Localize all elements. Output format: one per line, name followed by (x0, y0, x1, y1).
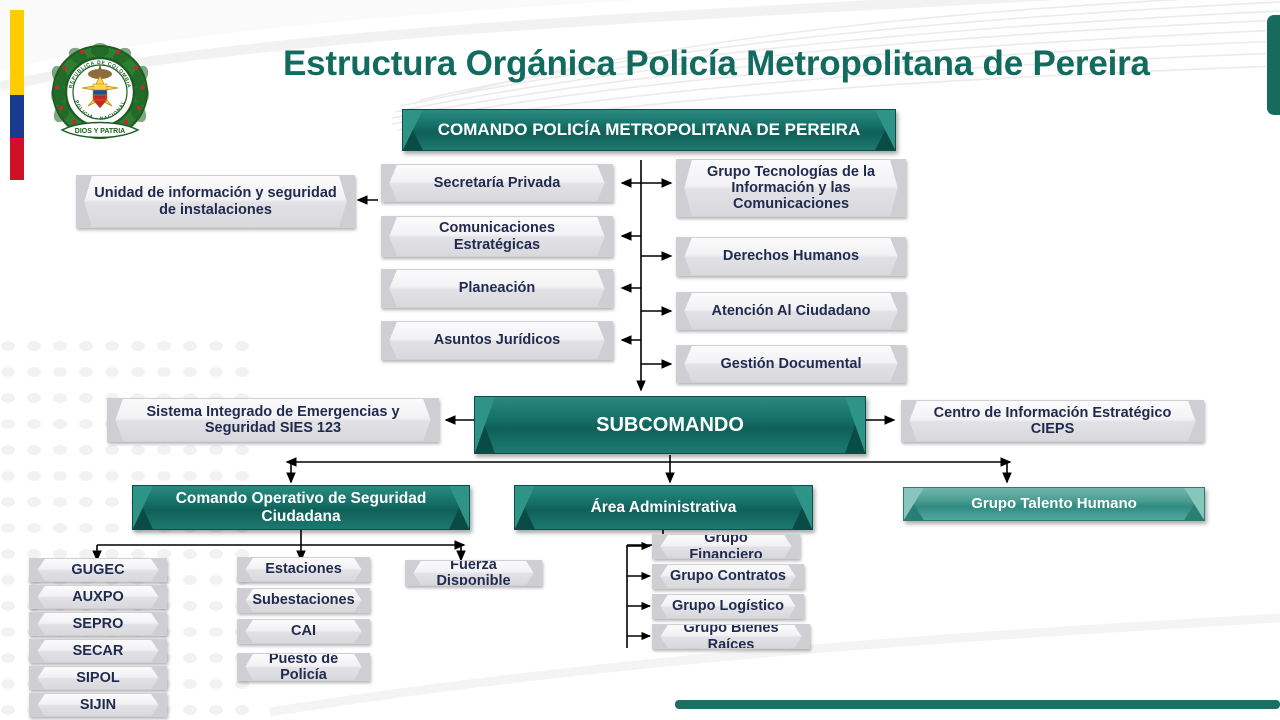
node-cieps[interactable]: Centro de Información Estratégico CIEPS (901, 400, 1204, 442)
node-label: Fuerza Disponible (406, 560, 541, 586)
node-label: SUBCOMANDO (582, 414, 758, 436)
node-label: AUXPO (58, 589, 138, 605)
node-estaciones[interactable]: Estaciones (237, 557, 370, 582)
node-unidad-informacion[interactable]: Unidad de información y seguridad de ins… (76, 175, 355, 228)
node-label: SIPOL (62, 670, 134, 686)
bottom-accent-bar (675, 700, 1280, 709)
node-atencion-ciudadano[interactable]: Atención Al Ciudadano (676, 292, 906, 330)
node-label: Grupo Talento Humano (957, 496, 1151, 513)
node-label: Secretaría Privada (420, 175, 575, 191)
node-sies-123[interactable]: Sistema Integrado de Emergencias y Segur… (107, 398, 439, 442)
node-secretaria-privada[interactable]: Secretaría Privada (381, 164, 613, 202)
node-gugec[interactable]: GUGEC (29, 558, 167, 582)
node-gestion-documental[interactable]: Gestión Documental (676, 345, 906, 383)
node-label: Planeación (445, 280, 550, 296)
node-label: GUGEC (57, 562, 138, 578)
node-label: Área Administrativa (577, 499, 751, 516)
node-label: Comunicaciones Estratégicas (382, 220, 612, 252)
node-label: Subestaciones (238, 592, 368, 608)
node-label: Grupo Logístico (658, 598, 798, 614)
node-label: CAI (277, 623, 330, 639)
node-subcomando[interactable]: SUBCOMANDO (474, 396, 866, 454)
node-sijin[interactable]: SIJIN (29, 693, 167, 717)
slide-canvas: REPUBLICA DE COLOMBIA POLICIA · NACIONAL… (0, 0, 1280, 720)
node-subestaciones[interactable]: Subestaciones (237, 588, 370, 613)
node-label: Derechos Humanos (709, 248, 873, 264)
node-grupo-logistico[interactable]: Grupo Logístico (652, 594, 804, 619)
node-grupo-financiero[interactable]: Grupo Financiero (652, 534, 800, 559)
background-decoration (0, 0, 1280, 720)
node-comunicaciones-estrategicas[interactable]: Comunicaciones Estratégicas (381, 216, 613, 257)
connector-lines (0, 0, 1280, 720)
svg-text:DIOS Y PATRIA: DIOS Y PATRIA (75, 128, 125, 135)
node-label: Estaciones (251, 561, 356, 577)
node-secar[interactable]: SECAR (29, 639, 167, 663)
node-grupo-bienes-raices[interactable]: Grupo Bienes Raíces (652, 624, 810, 649)
node-label: Asuntos Jurídicos (420, 332, 575, 348)
node-grupo-talento-humano[interactable]: Grupo Talento Humano (903, 487, 1205, 521)
node-comando-operativo[interactable]: Comando Operativo de Seguridad Ciudadana (132, 485, 470, 530)
node-label: SEPRO (59, 616, 138, 632)
node-label: SECAR (59, 643, 138, 659)
policia-nacional-colombia-emblem: REPUBLICA DE COLOMBIA POLICIA · NACIONAL… (48, 42, 152, 152)
flag-stripe-red (10, 138, 24, 180)
node-label: Centro de Información Estratégico CIEPS (902, 405, 1203, 437)
node-auxpo[interactable]: AUXPO (29, 585, 167, 609)
node-label: Gestión Documental (707, 356, 876, 372)
page-title: Estructura Orgánica Policía Metropolitan… (283, 44, 1253, 84)
node-label: COMANDO POLICÍA METROPOLITANA DE PEREIRA (424, 120, 875, 139)
node-sipol[interactable]: SIPOL (29, 666, 167, 690)
node-fuerza-disponible[interactable]: Fuerza Disponible (405, 560, 542, 586)
node-label: Grupo Tecnologías de la Información y la… (677, 164, 905, 213)
node-grupo-tecnologias[interactable]: Grupo Tecnologías de la Información y la… (676, 159, 906, 217)
node-label: SIJIN (66, 697, 130, 713)
node-derechos-humanos[interactable]: Derechos Humanos (676, 237, 906, 276)
node-comando[interactable]: COMANDO POLICÍA METROPOLITANA DE PEREIRA (402, 109, 896, 151)
node-label: Atención Al Ciudadano (698, 303, 885, 319)
right-accent-tab (1267, 15, 1280, 115)
node-label: Unidad de información y seguridad de ins… (77, 185, 354, 217)
node-grupo-contratos[interactable]: Grupo Contratos (652, 564, 804, 589)
node-label: Grupo Contratos (656, 568, 800, 584)
node-label: Grupo Bienes Raíces (653, 624, 809, 649)
node-label: Puesto de Policía (238, 653, 369, 681)
node-asuntos-juridicos[interactable]: Asuntos Jurídicos (381, 321, 613, 360)
node-cai[interactable]: CAI (237, 619, 370, 644)
node-label: Grupo Financiero (653, 534, 799, 559)
node-label: Comando Operativo de Seguridad Ciudadana (133, 490, 469, 525)
flag-stripe-yellow (10, 10, 24, 95)
node-label: Sistema Integrado de Emergencias y Segur… (108, 404, 438, 436)
node-planeacion[interactable]: Planeación (381, 269, 613, 308)
node-area-administrativa[interactable]: Área Administrativa (514, 485, 813, 530)
node-puesto-de-policia[interactable]: Puesto de Policía (237, 653, 370, 681)
node-sepro[interactable]: SEPRO (29, 612, 167, 636)
flag-stripe-blue (10, 95, 24, 138)
